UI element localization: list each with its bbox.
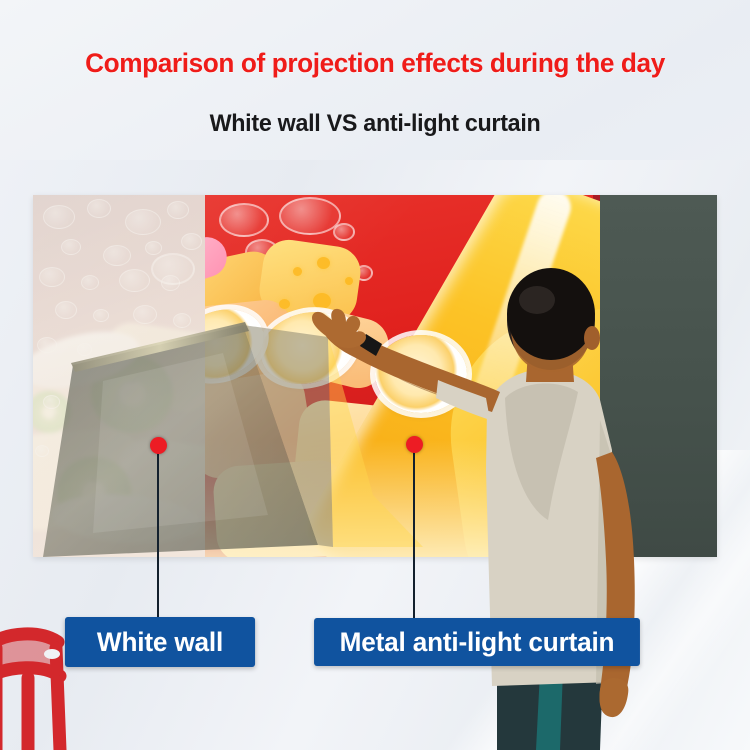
dark-wall-panel xyxy=(600,195,717,557)
projection-screen-area xyxy=(33,195,717,557)
callout-label-white-wall[interactable]: White wall xyxy=(65,617,255,667)
lemon-slice-front xyxy=(375,335,467,413)
washed-out-projection-zone xyxy=(33,195,205,557)
leader-line-white-wall xyxy=(157,448,159,620)
red-chair xyxy=(0,592,114,750)
leader-line-curtain xyxy=(413,447,415,619)
droplet-texture xyxy=(33,195,205,557)
callout-dot-white-wall xyxy=(150,437,167,454)
page-subtitle: White wall VS anti-light curtain xyxy=(11,110,739,138)
page-title: Comparison of projection effects during … xyxy=(11,48,739,79)
callout-label-metal-anti-light-curtain[interactable]: Metal anti-light curtain xyxy=(314,618,640,666)
callout-dot-curtain xyxy=(406,436,423,453)
poster-canvas: Comparison of projection effects during … xyxy=(0,0,750,750)
